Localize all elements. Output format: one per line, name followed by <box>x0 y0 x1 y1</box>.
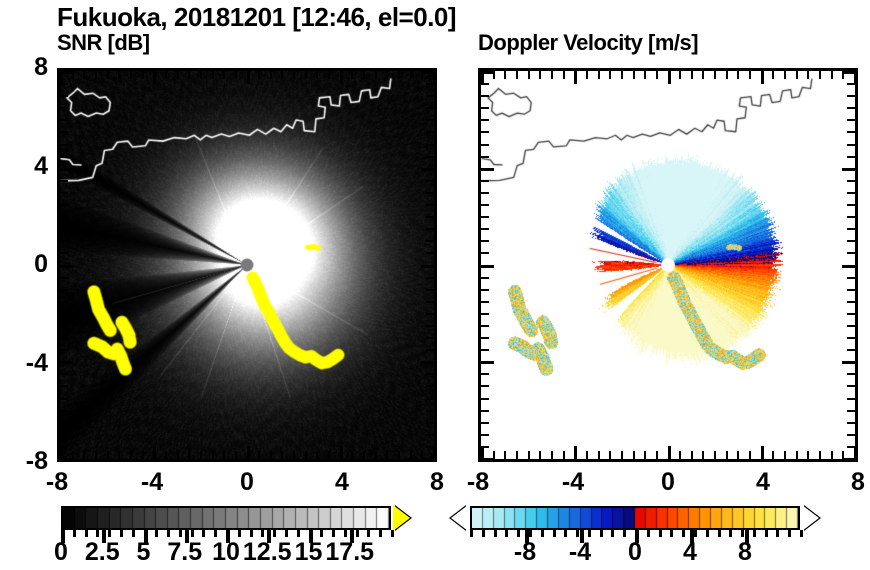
colorbar-minor-tick <box>179 530 182 537</box>
colorbar-minor-tick <box>132 530 135 537</box>
colorbar-minor-tick <box>120 530 123 537</box>
snr-plot-area[interactable] <box>57 68 437 462</box>
x-tick-label: -8 <box>448 468 508 497</box>
colorbar-minor-tick <box>659 530 662 537</box>
colorbar-minor-tick <box>167 530 170 537</box>
colorbar-minor-tick <box>297 530 300 537</box>
colorbar-minor-tick <box>238 530 241 537</box>
colorbar-tick-label: 8 <box>705 538 785 567</box>
y-tick-label: -4 <box>0 349 48 378</box>
colorbar-minor-tick <box>367 530 370 537</box>
colorbar-minor-tick <box>494 530 497 537</box>
doppler-colorbar-under-arrow <box>451 505 468 531</box>
page-title: Fukuoka, 20181201 [12:46, el=0.0] <box>57 2 456 33</box>
colorbar-minor-tick <box>694 530 697 537</box>
x-tick-label: -8 <box>27 468 87 497</box>
colorbar-minor-tick <box>765 530 768 537</box>
snr-colorbar-over-arrow <box>393 505 410 531</box>
x-tick-label: 0 <box>638 468 698 497</box>
colorbar-minor-tick <box>332 530 335 537</box>
colorbar-minor-tick <box>682 530 685 537</box>
y-tick-label: 8 <box>0 53 48 82</box>
x-tick-label: 0 <box>217 468 277 497</box>
colorbar-minor-tick <box>96 530 99 537</box>
colorbar-minor-tick <box>647 530 650 537</box>
snr-colorbar[interactable] <box>61 506 391 530</box>
colorbar-minor-tick <box>541 530 544 537</box>
colorbar-minor-tick <box>718 530 721 537</box>
colorbar-minor-tick <box>85 530 88 537</box>
colorbar-minor-tick <box>600 530 603 537</box>
y-tick-label: 0 <box>0 250 48 279</box>
colorbar-minor-tick <box>517 530 520 537</box>
x-tick-label: -4 <box>543 468 603 497</box>
colorbar-minor-tick <box>576 530 579 537</box>
colorbar-minor-tick <box>261 530 264 537</box>
colorbar-minor-tick <box>320 530 323 537</box>
colorbar-minor-tick <box>356 530 359 537</box>
y-tick-label: 4 <box>0 152 48 181</box>
colorbar-minor-tick <box>800 530 803 537</box>
colorbar-tick-label: 17.5 <box>310 538 390 567</box>
colorbar-minor-tick <box>482 530 485 537</box>
colorbar-minor-tick <box>776 530 779 537</box>
x-tick-label: 4 <box>312 468 372 497</box>
panel-title-snr: SNR [dB] <box>57 30 150 56</box>
colorbar-minor-tick <box>564 530 567 537</box>
colorbar-minor-tick <box>623 530 626 537</box>
colorbar-minor-tick <box>470 530 473 537</box>
doppler-colorbar[interactable] <box>470 506 800 530</box>
colorbar-minor-tick <box>611 530 614 537</box>
colorbar-minor-tick <box>788 530 791 537</box>
colorbar-minor-tick <box>505 530 508 537</box>
colorbar-minor-tick <box>285 530 288 537</box>
doppler-plot-area[interactable] <box>478 68 858 462</box>
x-tick-label: -4 <box>122 468 182 497</box>
colorbar-minor-tick <box>250 530 253 537</box>
colorbar-minor-tick <box>344 530 347 537</box>
colorbar-minor-tick <box>729 530 732 537</box>
doppler-radar-image <box>481 71 855 459</box>
snr-radar-image <box>60 71 434 459</box>
x-tick-label: 4 <box>733 468 793 497</box>
colorbar-minor-tick <box>670 530 673 537</box>
snr-colorbar-gradient <box>61 506 391 530</box>
colorbar-minor-tick <box>379 530 382 537</box>
colorbar-minor-tick <box>529 530 532 537</box>
colorbar-minor-tick <box>741 530 744 537</box>
panel-title-doppler: Doppler Velocity [m/s] <box>478 30 698 56</box>
doppler-colorbar-gradient <box>470 506 800 530</box>
colorbar-minor-tick <box>191 530 194 537</box>
colorbar-minor-tick <box>391 530 394 537</box>
colorbar-minor-tick <box>155 530 158 537</box>
colorbar-minor-tick <box>753 530 756 537</box>
colorbar-minor-tick <box>706 530 709 537</box>
colorbar-minor-tick <box>588 530 591 537</box>
colorbar-minor-tick <box>214 530 217 537</box>
x-tick-label: 8 <box>828 468 870 497</box>
colorbar-minor-tick <box>273 530 276 537</box>
colorbar-minor-tick <box>73 530 76 537</box>
colorbar-minor-tick <box>108 530 111 537</box>
colorbar-minor-tick <box>202 530 205 537</box>
colorbar-minor-tick <box>553 530 556 537</box>
doppler-colorbar-over-arrow <box>802 505 819 531</box>
